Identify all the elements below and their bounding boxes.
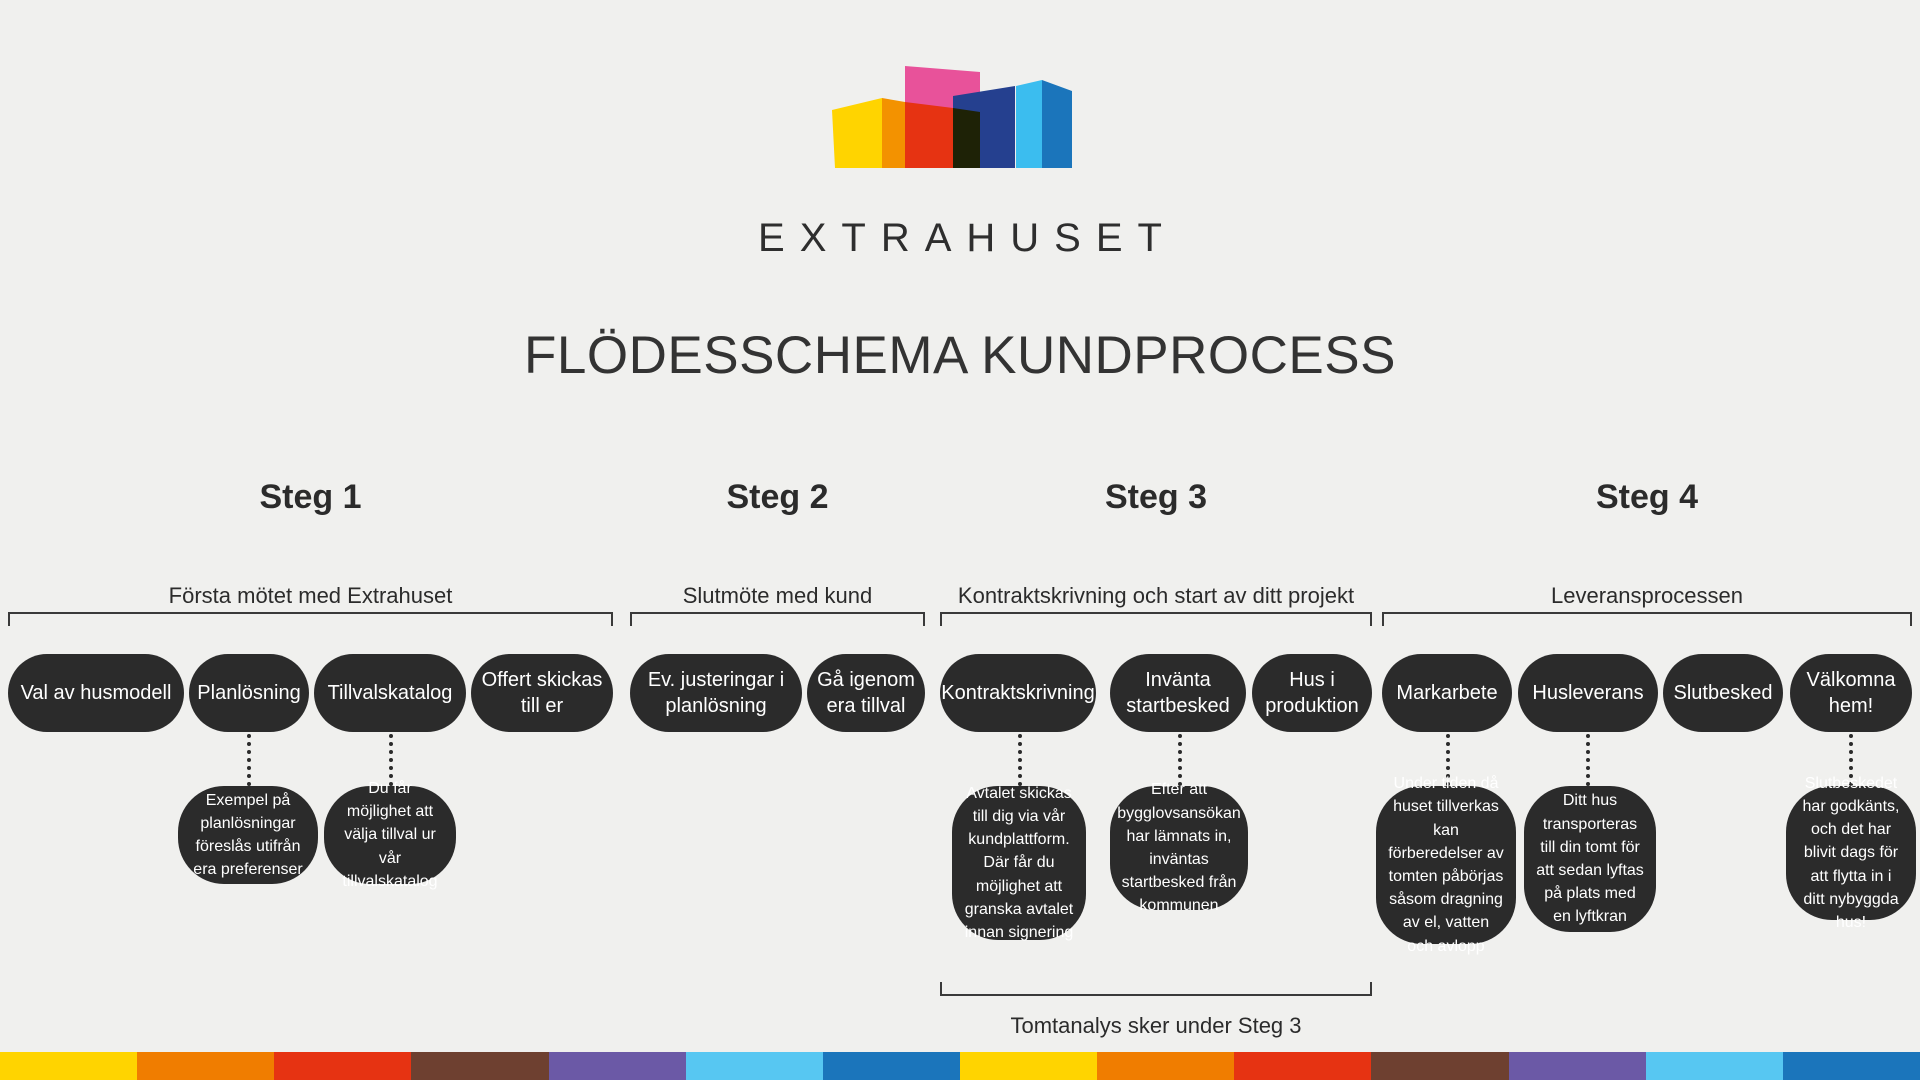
process-step-invanta-startbesked[interactable]: Invänta startbesked (1110, 654, 1246, 732)
process-step-offert-skickas-till-er[interactable]: Offert skickas till er (471, 654, 613, 732)
step-subtitle-3: Kontraktskrivning och start av ditt proj… (940, 583, 1372, 609)
brand-wordmark: EXTRAHUSET (0, 216, 1920, 261)
color-bar-segment-4 (411, 1052, 548, 1080)
process-step-ev-justeringar[interactable]: Ev. justeringar i planlösning (630, 654, 802, 732)
color-bar-segment-7 (823, 1052, 960, 1080)
step-bracket-3 (940, 612, 1372, 626)
note-bubble-kontraktskrivning: Avtalet skickas till dig via vår kundpla… (952, 786, 1086, 940)
color-bar-segment-11 (1371, 1052, 1508, 1080)
color-bar-segment-6 (686, 1052, 823, 1080)
brand-color-bar (0, 1052, 1920, 1080)
brand-logo-block: EXTRAHUSET (0, 58, 1920, 261)
step-subtitle-1: Första mötet med Extrahuset (8, 583, 613, 609)
process-step-planlosning[interactable]: Planlösning (189, 654, 309, 732)
process-step-tillvalskatalog[interactable]: Tillvalskatalog (314, 654, 466, 732)
process-step-hus-i-produktion[interactable]: Hus i produktion (1252, 654, 1372, 732)
step-heading-2: Steg 2 (630, 478, 925, 517)
color-bar-segment-8 (960, 1052, 1097, 1080)
note-bubble-husleverans: Ditt hus transporteras till din tomt för… (1524, 786, 1656, 932)
color-bar-segment-9 (1097, 1052, 1234, 1080)
color-bar-segment-3 (274, 1052, 411, 1080)
color-bar-segment-14 (1783, 1052, 1920, 1080)
note-bubble-markarbete: Under tiden då huset tillverkas kan förb… (1376, 786, 1516, 944)
step-heading-1: Steg 1 (8, 478, 613, 517)
process-step-kontraktskrivning[interactable]: Kontraktskrivning (940, 654, 1096, 732)
tomtanalys-caption: Tomtanalys sker under Steg 3 (940, 1013, 1372, 1039)
color-bar-segment-10 (1234, 1052, 1371, 1080)
process-step-val-av-husmodell[interactable]: Val av husmodell (8, 654, 184, 732)
process-step-ga-igenom-era-tillval[interactable]: Gå igenom era tillval (807, 654, 925, 732)
step-bracket-4 (1382, 612, 1912, 626)
process-step-slutbesked[interactable]: Slutbesked (1663, 654, 1783, 732)
extrahuset-logo-icon (810, 58, 1110, 198)
step-subtitle-2: Slutmöte med kund (630, 583, 925, 609)
color-bar-segment-2 (137, 1052, 274, 1080)
connector-line-husleverans (1586, 734, 1590, 786)
process-step-markarbete[interactable]: Markarbete (1382, 654, 1512, 732)
color-bar-segment-5 (549, 1052, 686, 1080)
tomtanalys-bracket (940, 982, 1372, 996)
step-heading-3: Steg 3 (940, 478, 1372, 517)
note-bubble-valkomna-hem: Slutbeskedet har godkänts, och det har b… (1786, 786, 1916, 920)
color-bar-segment-13 (1646, 1052, 1783, 1080)
connector-line-planlosning (247, 734, 251, 786)
connector-line-kontraktskrivning (1018, 734, 1022, 786)
step-bracket-1 (8, 612, 613, 626)
color-bar-segment-12 (1509, 1052, 1646, 1080)
color-bar-segment-1 (0, 1052, 137, 1080)
page-title: FLÖDESSCHEMA KUNDPROCESS (0, 325, 1920, 386)
process-step-husleverans[interactable]: Husleverans (1518, 654, 1658, 732)
note-bubble-invanta-startbesked: Efter att bygglovsansökan har lämnats in… (1110, 786, 1248, 910)
note-bubble-planlosning: Exempel på planlösningar föreslås utifrå… (178, 786, 318, 884)
step-bracket-2 (630, 612, 925, 626)
process-step-valkomna-hem[interactable]: Välkomna hem! (1790, 654, 1912, 732)
step-subtitle-4: Leveransprocessen (1382, 583, 1912, 609)
step-heading-4: Steg 4 (1382, 478, 1912, 517)
note-bubble-tillvalskatalog: Du får möjlighet att välja tillval ur vå… (324, 786, 456, 884)
